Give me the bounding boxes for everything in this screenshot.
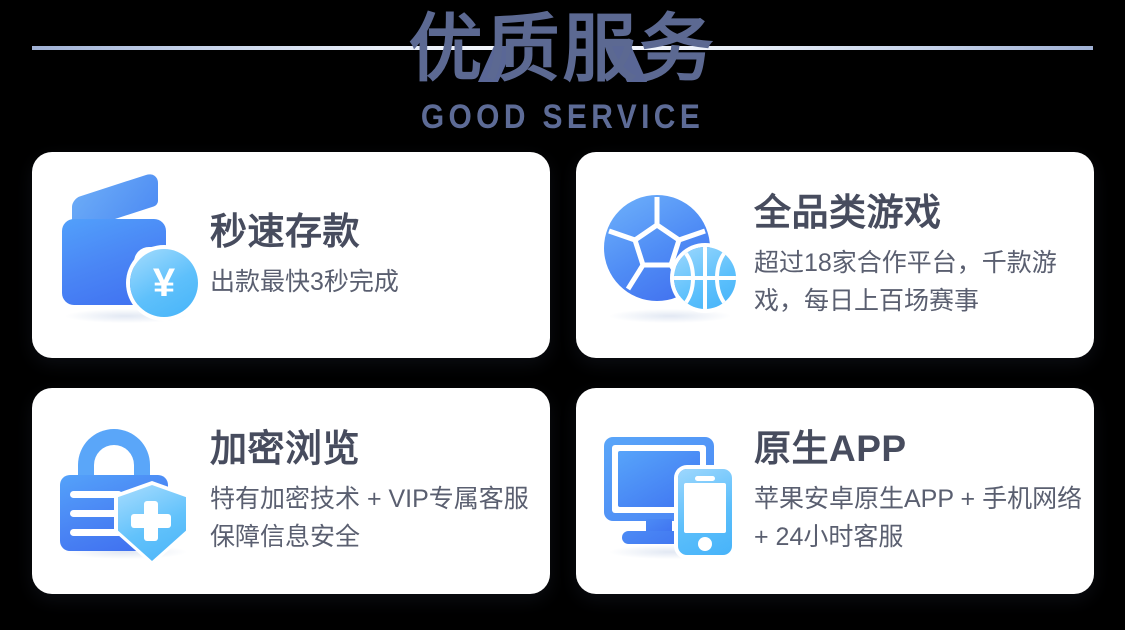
card-title: 加密浏览 <box>210 426 544 472</box>
card-title: 原生APP <box>754 426 1088 472</box>
page-title: 优质服务 <box>0 6 1125 92</box>
phone-speaker-icon <box>695 476 715 481</box>
page-subtitle: GOOD SERVICE <box>68 98 1058 136</box>
feature-card-encrypted-browsing[interactable]: 加密浏览 特有加密技术 + VIP专属客服保障信息安全 <box>32 388 550 594</box>
feature-card-instant-deposit[interactable]: ¥ 秒速存款 出款最快3秒完成 <box>32 152 550 358</box>
card-text-block: 原生APP 苹果安卓原生APP + 手机网络 + 24小时客服 <box>754 426 1088 556</box>
card-description: 苹果安卓原生APP + 手机网络 + 24小时客服 <box>754 480 1084 556</box>
basketball-icon <box>674 247 736 309</box>
page-header: 优质服务 GOOD SERVICE <box>0 0 1125 150</box>
lock-shield-icon <box>56 421 196 561</box>
wallet-coin-icon: ¥ <box>56 185 196 325</box>
card-description: 特有加密技术 + VIP专属客服保障信息安全 <box>210 480 540 556</box>
card-text-block: 秒速存款 出款最快3秒完成 <box>210 209 544 301</box>
basketball-lines-icon <box>674 247 736 309</box>
feature-card-native-app[interactable]: 原生APP 苹果安卓原生APP + 手机网络 + 24小时客服 <box>576 388 1094 594</box>
icon-shadow <box>610 309 730 323</box>
soccer-basketball-icon <box>600 185 740 325</box>
feature-card-grid: ¥ 秒速存款 出款最快3秒完成 <box>32 152 1094 594</box>
cross-horizontal-icon <box>131 514 171 528</box>
monitor-phone-icon <box>600 421 740 561</box>
phone-home-button-icon <box>698 537 712 551</box>
card-title: 全品类游戏 <box>754 190 1088 236</box>
card-text-block: 加密浏览 特有加密技术 + VIP专属客服保障信息安全 <box>210 426 544 556</box>
card-description: 出款最快3秒完成 <box>210 263 544 301</box>
card-title: 秒速存款 <box>210 209 544 255</box>
card-text-block: 全品类游戏 超过18家合作平台，千款游戏，每日上百场赛事 <box>754 190 1088 320</box>
card-description: 超过18家合作平台，千款游戏，每日上百场赛事 <box>754 244 1084 320</box>
yen-symbol-icon: ¥ <box>130 249 198 317</box>
feature-card-all-category-games[interactable]: 全品类游戏 超过18家合作平台，千款游戏，每日上百场赛事 <box>576 152 1094 358</box>
phone-screen-icon <box>684 483 726 533</box>
